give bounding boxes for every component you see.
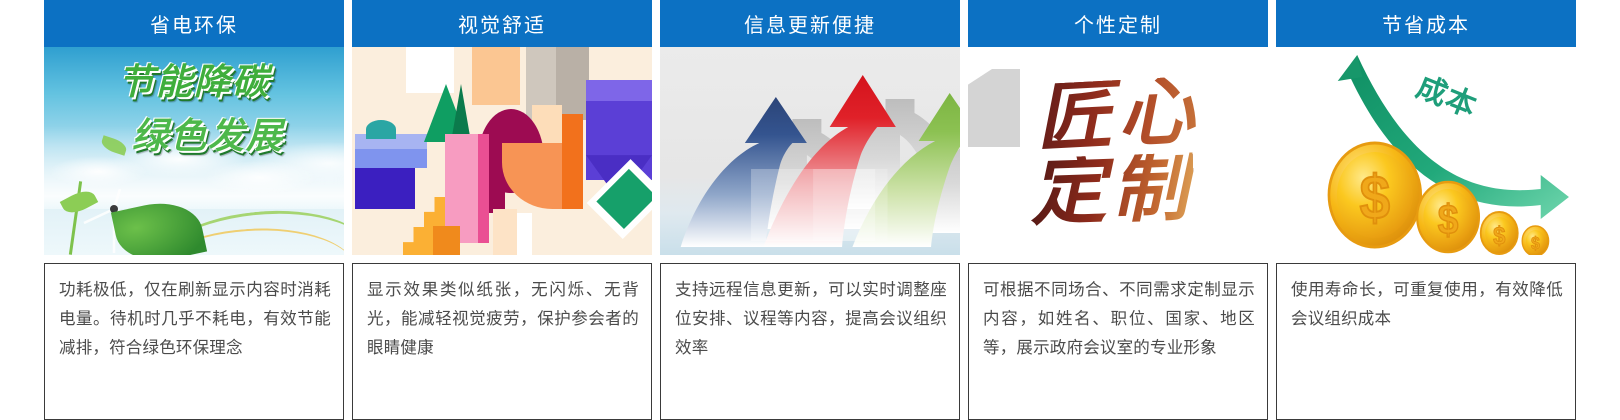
column-header-3: 信息更新便捷 <box>660 0 960 47</box>
orange-bar-shape <box>562 114 583 210</box>
feature-column-visual-comfort: 视觉舒适 <box>352 0 652 420</box>
svg-text:$: $ <box>1493 222 1505 250</box>
column-header-2: 视觉舒适 <box>352 0 652 47</box>
column-description-5: 使用寿命长，可重复使用，有效降低会议组织成本 <box>1276 263 1576 420</box>
column-description-4: 可根据不同场合、不同需求定制显示内容，如姓名、职位、国家、地区等，展示政府会议室… <box>968 263 1268 420</box>
calligraphy-line1: 匠心 <box>1034 75 1202 155</box>
white-bar-shape <box>517 213 532 255</box>
svg-text:$: $ <box>1438 197 1459 244</box>
column-header-1: 省电环保 <box>44 0 344 47</box>
column-description-wrap-2: 显示效果类似纸张，无闪烁、无背光，能减轻视觉疲劳，保护参会者的眼睛健康 <box>352 255 652 420</box>
feature-column-info-update: 信息更新便捷 <box>660 0 960 420</box>
cream-bar-shape <box>493 209 517 255</box>
magenta-bar-shape <box>478 134 489 242</box>
coin-large: $ <box>1329 143 1421 247</box>
column-description-3: 支持远程信息更新，可以实时调整座位安排、议程等内容，提高会议组织效率 <box>660 263 960 420</box>
column-image-1-energy-saving-poster: 节能降碳 绿色发展 <box>44 47 344 255</box>
coin-medium: $ <box>1417 182 1479 252</box>
feature-column-customization: 个性定制 匠心 定制 可根据不同场合、不同需求定制显示内容，如姓名、职位、国家、… <box>968 0 1268 420</box>
column-image-4-calligraphy: 匠心 定制 <box>968 47 1268 255</box>
peach-rect-shape <box>472 47 520 105</box>
column-description-wrap-4: 可根据不同场合、不同需求定制显示内容，如姓名、职位、国家、地区等，展示政府会议室… <box>968 255 1268 420</box>
column-description-wrap-5: 使用寿命长，可重复使用，有效降低会议组织成本 <box>1276 255 1576 420</box>
column-header-5: 节省成本 <box>1276 0 1576 47</box>
svg-text:$: $ <box>1360 164 1390 233</box>
column-description-wrap-1: 功耗极低，仅在刷新显示内容时消耗电量。待机时几乎不耗电，有效节能减排，符合绿色环… <box>44 255 344 420</box>
feature-column-power-saving: 省电环保 节能降碳 绿色发展 功耗极低，仅在刷新显示内容时消耗电量。待机时几乎不… <box>44 0 344 420</box>
feature-comparison-board: 省电环保 节能降碳 绿色发展 功耗极低，仅在刷新显示内容时消耗电量。待机时几乎不… <box>0 0 1620 420</box>
column-image-2-abstract-geometry <box>352 47 652 255</box>
coin-tiny: $ <box>1522 226 1548 255</box>
navy-square-shape <box>355 168 415 210</box>
svg-text:$: $ <box>1531 233 1540 253</box>
purple-top-shape <box>586 80 652 101</box>
rising-arrows-icon <box>660 47 960 255</box>
teal-dome-shape <box>366 120 396 139</box>
column-header-4: 个性定制 <box>968 0 1268 47</box>
poster-title-line2: 绿色发展 <box>72 107 344 159</box>
poster-title-line1: 节能降碳 <box>44 53 344 105</box>
calligraphy-block: 匠心 定制 <box>968 51 1268 255</box>
column-image-3-rising-arrows <box>660 47 960 255</box>
poster-title: 节能降碳 绿色发展 <box>44 53 344 159</box>
feature-column-cost-saving: 节省成本 <box>1276 0 1576 420</box>
orange-stair-base-shape <box>433 226 460 255</box>
column-image-5-cost-reduction: $ $ $ $ 成本 <box>1276 47 1576 255</box>
calligraphy-line2: 定制 <box>1029 152 1195 229</box>
column-description-wrap-3: 支持远程信息更新，可以实时调整座位安排、议程等内容，提高会议组织效率 <box>660 255 960 420</box>
coin-small: $ <box>1481 212 1518 254</box>
column-description-2: 显示效果类似纸张，无闪烁、无背光，能减轻视觉疲劳，保护参会者的眼睛健康 <box>352 263 652 420</box>
column-description-1: 功耗极低，仅在刷新显示内容时消耗电量。待机时几乎不耗电，有效节能减排，符合绿色环… <box>44 263 344 420</box>
